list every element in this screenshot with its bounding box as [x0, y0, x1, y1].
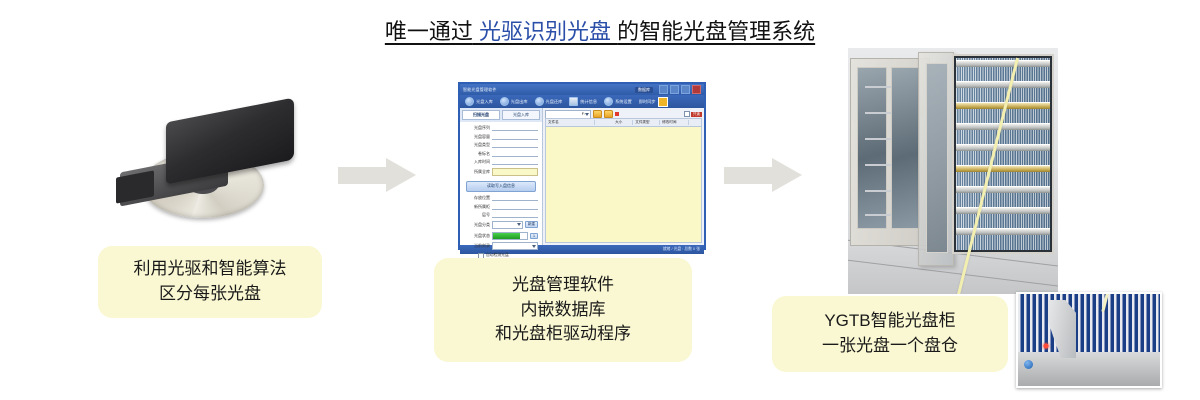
disc-category-select[interactable] — [492, 221, 523, 229]
title-badge: 数据库 — [635, 87, 653, 93]
window-toolbar: 光盘入库 光盘出库 光盘还库 统计信息 系统设置 即时同步 — [460, 95, 704, 108]
open-cabinet-interior — [952, 54, 1054, 254]
window-titlebar: 智能光盘管理软件 数据库 — [460, 84, 704, 95]
toolbar-label: 统计信息 — [580, 99, 597, 105]
caption-box-software: 光盘管理软件 内嵌数据库 和光盘柜驱动程序 — [434, 258, 692, 362]
toolbar-button-disc-return[interactable]: 光盘还库 — [532, 96, 566, 107]
field-label: 光盘容量 — [464, 134, 490, 140]
status-text: 就绪 / 光盘 : 总数 0 张 — [663, 247, 700, 252]
volume-label-input[interactable] — [492, 151, 538, 157]
software-screenshot: 智能光盘管理软件 数据库 光盘入库 光盘出库 光盘还库 统计信息 系统设置 即时… — [458, 82, 706, 250]
field-label: 新所属柜 — [464, 204, 490, 210]
field-label: 所属全库 — [464, 169, 490, 175]
form-row: 卷标名 — [464, 151, 538, 157]
toolbar-button-settings[interactable]: 系统设置 — [601, 96, 635, 107]
red-led-indicator — [1040, 342, 1052, 350]
blue-indicator-dot — [1024, 360, 1033, 369]
folder-open-icon[interactable] — [593, 110, 602, 118]
disc-serial-input[interactable] — [492, 125, 538, 131]
field-label: 光盘状态 — [464, 233, 490, 239]
panel-tabs: 扫描光盘 光盘入库 — [460, 108, 542, 122]
window-help-button[interactable] — [659, 85, 668, 94]
field-label: 卷标名 — [464, 151, 490, 157]
window-body: 扫描光盘 光盘入库 光盘序列 光盘容量 光盘类型 卷标名 入库时间 所属全库 读… — [460, 108, 704, 245]
title-part1: 唯一通过 — [385, 19, 473, 44]
form-row: 层号 — [464, 212, 538, 218]
field-label: 当前刻录 — [464, 243, 490, 249]
title-accent: 光驱识别光盘 — [479, 19, 611, 44]
toolbar-button-disc-out[interactable]: 光盘出库 — [497, 96, 531, 107]
cabinet-glass-pane-right — [891, 67, 921, 229]
open-glass-door — [918, 52, 954, 266]
file-list-area[interactable] — [545, 127, 702, 243]
arrow-head — [772, 158, 802, 192]
toolbar-label: 光盘出库 — [511, 99, 528, 105]
form-row: 所属全库 — [464, 168, 538, 176]
readonly-checkbox[interactable] — [684, 111, 690, 117]
form-row: 存放位置 — [464, 195, 538, 201]
arrow-software-to-cabinet — [724, 158, 802, 192]
page-title-text: 唯一通过 光驱识别光盘 的智能光盘管理系统 — [385, 19, 815, 44]
intake-time-input[interactable] — [492, 159, 538, 165]
window-maximize-button[interactable] — [681, 85, 690, 94]
caption-box-drive: 利用光驱和智能算法 区分每张光盘 — [98, 246, 322, 318]
form-row: 新所属柜 — [464, 204, 538, 210]
door-glass-pane — [926, 63, 948, 253]
form-row: 当前刻录 — [464, 242, 538, 250]
tab-disc-in[interactable]: 光盘入库 — [502, 110, 540, 120]
toolbar-label: 光盘入库 — [476, 99, 493, 105]
column-filename[interactable]: 文件名 — [546, 120, 595, 125]
field-label: 光盘类型 — [464, 142, 490, 148]
arrow-drive-to-software — [338, 158, 416, 192]
field-label: 入库时间 — [464, 159, 490, 165]
column-filetype[interactable]: 文件类型 — [633, 120, 660, 125]
record-dot-icon — [615, 112, 619, 116]
disc-out-icon — [500, 97, 509, 106]
arrow-shaft — [338, 167, 388, 184]
toolbar-label: 系统设置 — [615, 99, 632, 105]
disc-return-icon — [535, 97, 544, 106]
window-close-button[interactable] — [692, 85, 701, 94]
arrow-head — [386, 158, 416, 192]
disc-in-icon — [465, 97, 474, 106]
window-title: 智能光盘管理软件 — [463, 87, 635, 93]
form-row: 入库时间 — [464, 159, 538, 165]
path-toolbar: F: 只读 — [545, 110, 702, 118]
owner-cabinet-input[interactable] — [492, 168, 538, 176]
field-label: 光盘序列 — [464, 125, 490, 131]
toolbar-button-disc-in[interactable]: 光盘入库 — [462, 96, 496, 107]
arrow-shaft — [724, 167, 774, 184]
form-row: 光盘类型 — [464, 142, 538, 148]
rack-base-rail — [1018, 352, 1160, 386]
readonly-label: 只读 — [691, 112, 702, 117]
toolbar-label: 光盘还库 — [546, 99, 563, 105]
storage-location-input[interactable] — [492, 195, 538, 201]
folder-up-icon[interactable] — [604, 110, 613, 118]
toolbar-button-sync[interactable]: 即时同步 — [636, 96, 671, 108]
readonly-option[interactable]: 只读 — [684, 111, 702, 117]
caption-box-cabinet: YGTB智能光盘柜 一张光盘一个盘仓 — [772, 296, 1008, 372]
field-label: 层号 — [464, 212, 490, 218]
column-modified[interactable]: 修改时间 — [660, 120, 689, 125]
form-row: 光盘分类 新建 — [464, 221, 538, 229]
disc-type-input[interactable] — [492, 142, 538, 148]
disc-rack — [956, 58, 1050, 250]
left-form-panel: 扫描光盘 光盘入库 光盘序列 光盘容量 光盘类型 卷标名 入库时间 所属全库 读… — [460, 108, 543, 245]
file-browser-panel: F: 只读 文件名 大小 文件类型 修改时间 — [543, 108, 704, 245]
cabinet-glass-pane-left — [857, 67, 887, 229]
read-disc-info-button[interactable]: 读取写入盘信息 — [466, 181, 536, 192]
toolbar-button-stats[interactable]: 统计信息 — [566, 96, 600, 107]
page-title: 唯一通过 光驱识别光盘 的智能光盘管理系统 — [0, 14, 1200, 46]
new-cabinet-input[interactable] — [492, 204, 538, 210]
toolbar-label: 即时同步 — [639, 99, 656, 105]
quantity-stepper[interactable]: 1 — [530, 233, 538, 239]
disc-cabinet-photo — [848, 48, 1058, 294]
gear-icon — [604, 97, 613, 106]
disc-slot-detail-inset — [1016, 292, 1162, 388]
layer-number-input[interactable] — [492, 212, 538, 218]
tab-scan-disc[interactable]: 扫描光盘 — [462, 110, 500, 120]
title-part2: 的智能光盘管理系统 — [617, 19, 815, 44]
disc-progress-bar — [492, 232, 528, 240]
form-row: 光盘序列 — [464, 125, 538, 131]
disc-capacity-input[interactable] — [492, 134, 538, 140]
stats-icon — [569, 97, 578, 106]
optical-drive-photo — [112, 108, 312, 220]
form-row: 光盘状态 1 — [464, 232, 538, 240]
drive-body — [166, 98, 294, 185]
file-list-header: 文件名 大小 文件类型 修改时间 — [545, 118, 702, 127]
window-minimize-button[interactable] — [670, 85, 679, 94]
field-label: 存放位置 — [464, 195, 490, 201]
sync-icon — [658, 97, 668, 107]
field-label: 光盘分类 — [464, 222, 490, 228]
column-size[interactable]: 大小 — [613, 120, 633, 125]
form-row: 光盘容量 — [464, 134, 538, 140]
new-category-button[interactable]: 新建 — [525, 221, 538, 228]
current-burn-select[interactable] — [492, 242, 538, 250]
disc-info-form: 光盘序列 光盘容量 光盘类型 卷标名 入库时间 所属全库 读取写入盘信息 存放位… — [460, 122, 542, 262]
